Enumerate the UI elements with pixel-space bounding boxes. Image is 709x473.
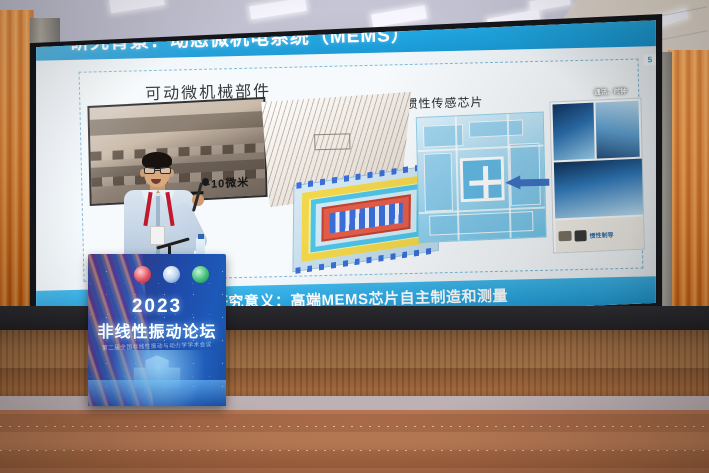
application-photo-collage: 通讯、时钟 惯性制导 [549, 98, 645, 254]
conference-photo-scene: 研究背景：动态微机电系统（MEMS） 5 可动微机械部件 MEMS惯性传感芯片 … [0, 0, 709, 473]
hall-floor [0, 396, 709, 473]
stage-curtain-left [0, 10, 34, 306]
podium-forum-name: 非线性振动论坛 [88, 318, 226, 342]
speaker-podium: 2023 非线性振动论坛 第二届全国非线性振动与动力学学术会议 [88, 254, 226, 406]
podium-base-light [88, 380, 226, 406]
name-badge [150, 226, 165, 245]
collage-footer: 惯性制导 [555, 217, 644, 253]
collage-caption-comm: 通讯、时钟 [594, 85, 627, 96]
speaker-person [118, 150, 204, 262]
university-logo-green-icon [192, 266, 209, 283]
podium-logo-row [134, 266, 209, 283]
camera-icon [574, 230, 586, 242]
podium-year: 2023 [88, 296, 226, 318]
scale-bar-label: ~10微米 [203, 174, 249, 192]
university-logo-blue-icon [163, 266, 180, 283]
university-logo-red-icon [134, 266, 151, 283]
collage-caption-nav: 惯性制导 [589, 229, 613, 239]
microphone-head-icon [202, 178, 209, 186]
device-icon [558, 231, 571, 242]
flow-arrow-left-icon [505, 175, 549, 190]
photo-missile: 通讯、时钟 [554, 159, 643, 219]
glasses-icon [144, 167, 171, 174]
photo-helicopter [595, 101, 639, 159]
slide-page-badge: 5 [643, 54, 656, 65]
photo-satellite [552, 103, 594, 161]
stage-curtain-right [668, 50, 709, 346]
water-bottle-cap [198, 234, 204, 239]
